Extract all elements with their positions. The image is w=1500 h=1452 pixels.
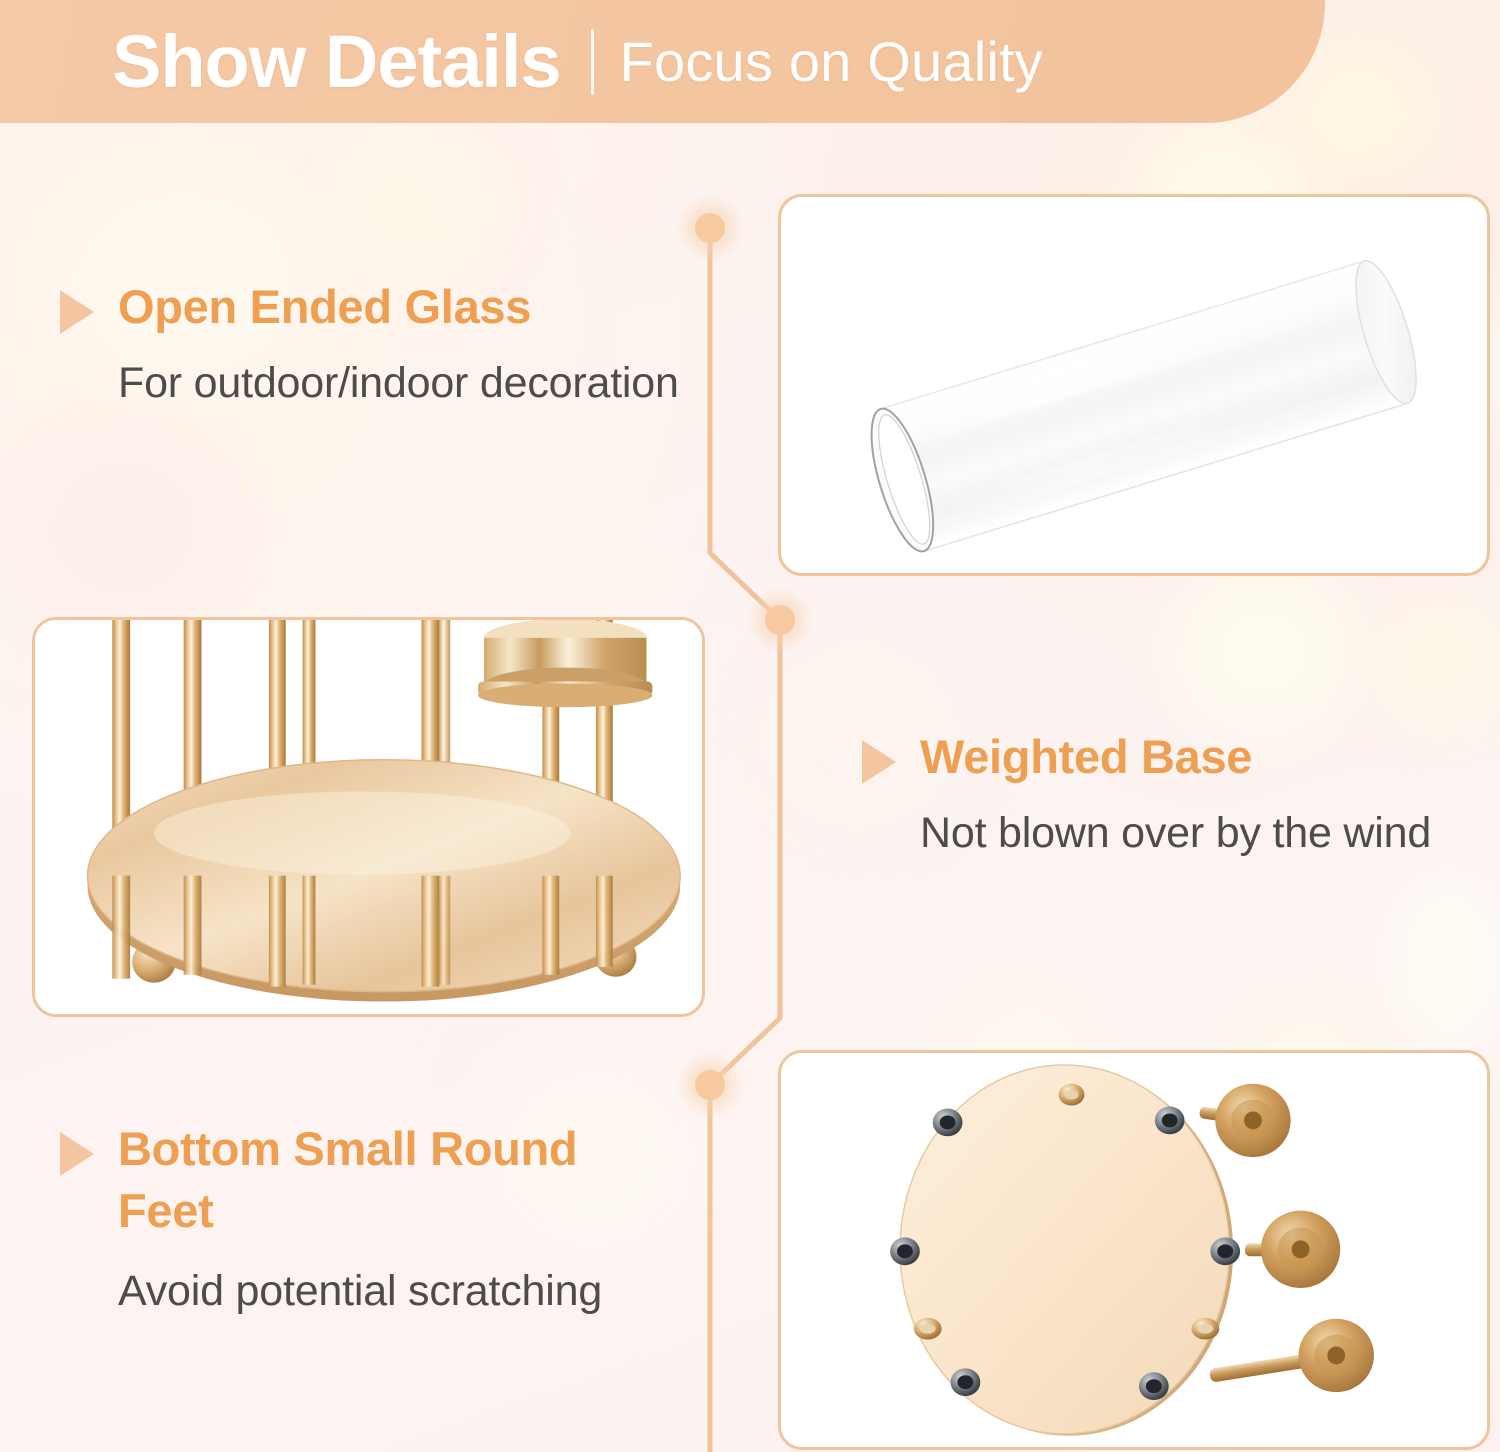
feature-heading-row: Open Ended Glass	[60, 276, 700, 338]
header-divider	[591, 29, 594, 95]
infographic-page: Show Details Focus on Quality Open Ended…	[0, 0, 1500, 1452]
feature-title: Bottom Small Round Feet	[118, 1118, 660, 1242]
page-title: Show Details	[112, 25, 561, 99]
triangle-right-icon	[60, 290, 94, 334]
base-underside-illustration	[781, 1053, 1487, 1450]
feature-heading-row: Weighted Base	[862, 726, 1482, 788]
glass-tube-illustration	[781, 197, 1487, 576]
header-banner: Show Details Focus on Quality	[0, 0, 1325, 123]
feature-bottom-small-round-feet: Bottom Small Round Feet Avoid potential …	[60, 1118, 660, 1324]
feature-weighted-base: Weighted Base Not blown over by the wind	[862, 726, 1482, 866]
gold-rods-illustration	[35, 620, 702, 1016]
feature-heading-row: Bottom Small Round Feet	[60, 1118, 660, 1242]
feature-open-ended-glass: Open Ended Glass For outdoor/indoor deco…	[60, 276, 700, 416]
feature-title: Open Ended Glass	[118, 276, 531, 338]
feature-description: Avoid potential scratching	[118, 1260, 660, 1324]
feature-description: For outdoor/indoor decoration	[118, 352, 700, 416]
triangle-right-icon	[60, 1132, 94, 1176]
base-underside-photo-card	[778, 1050, 1490, 1450]
feature-description: Not blown over by the wind	[920, 802, 1482, 866]
gold-rods-base-photo-card	[32, 617, 705, 1017]
glass-tube-photo-card	[778, 194, 1490, 576]
triangle-right-icon	[862, 740, 896, 784]
page-subtitle: Focus on Quality	[620, 34, 1043, 90]
feature-title: Weighted Base	[920, 726, 1252, 788]
